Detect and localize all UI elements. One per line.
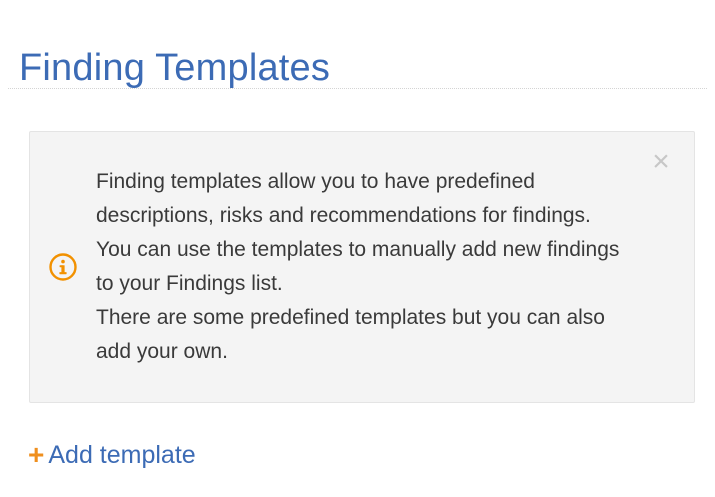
- add-template-label: Add template: [48, 440, 195, 470]
- page-root: Finding Templates Finding templates allo…: [0, 0, 715, 497]
- close-icon[interactable]: ×: [644, 146, 678, 180]
- info-panel-text: Finding templates allow you to have pred…: [96, 165, 624, 369]
- page-title: Finding Templates: [19, 45, 330, 91]
- info-paragraph-2: You can use the templates to manually ad…: [96, 233, 624, 301]
- info-paragraph-3: There are some predefined templates but …: [96, 301, 624, 369]
- info-panel: Finding templates allow you to have pred…: [29, 131, 695, 403]
- info-circle-icon: [48, 252, 78, 282]
- plus-icon: +: [28, 440, 44, 470]
- info-paragraph-1: Finding templates allow you to have pred…: [96, 165, 624, 233]
- add-template-button[interactable]: + Add template: [28, 440, 196, 470]
- info-panel-inner: Finding templates allow you to have pred…: [30, 132, 694, 402]
- title-divider: [8, 88, 707, 89]
